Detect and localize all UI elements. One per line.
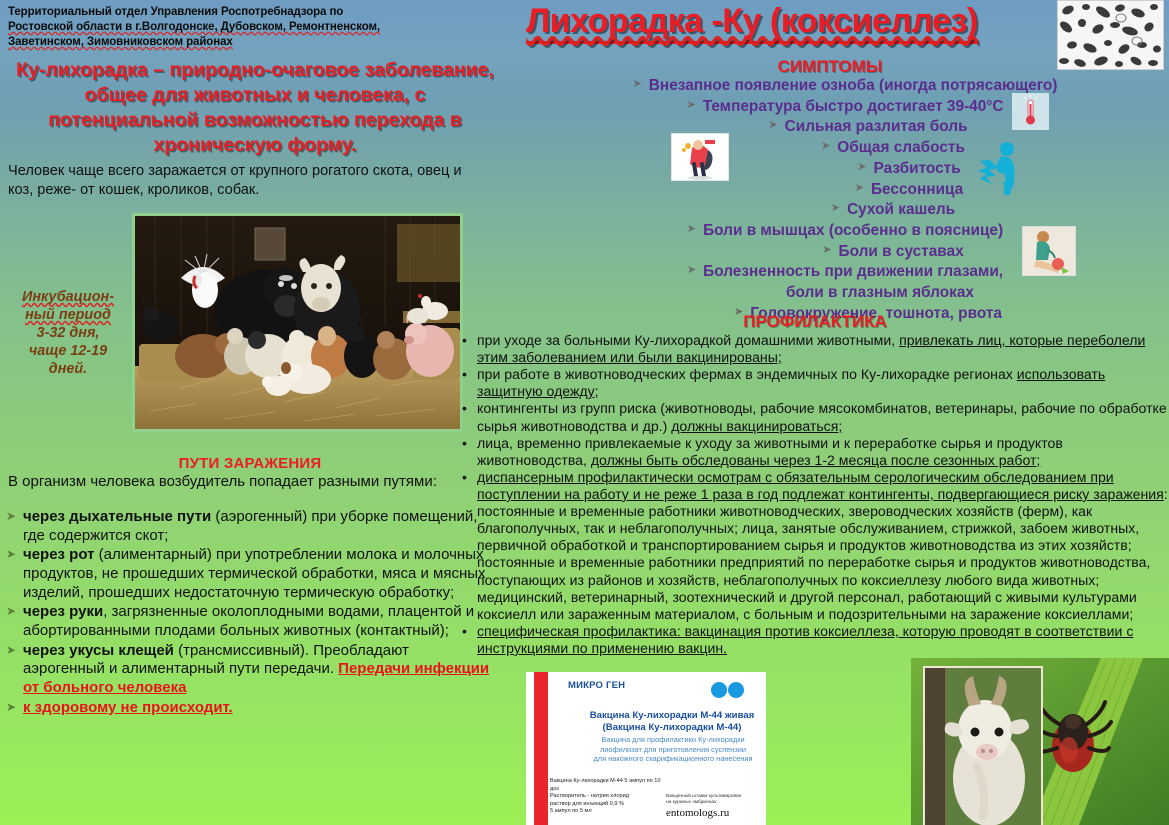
arrow-bullet-icon: ➤: [4, 699, 18, 716]
route-label: через рот: [23, 546, 94, 563]
org-line-2: Ростовской области в г.Волгодонске, Дубо…: [8, 20, 468, 35]
route-label: через укусы клещей: [23, 642, 174, 659]
vaccine-name: Вакцина Ку-лихорадки М-44 живая(Вакцина …: [582, 710, 762, 734]
list-item: боли в глазным яблоках: [585, 283, 1105, 304]
bullet-icon: •: [462, 469, 470, 485]
prevention-plain-2: : постоянные и временные работники живот…: [477, 486, 1168, 622]
prevention-title: ПРОФИЛАКТИКА: [600, 312, 1030, 332]
prevention-plain: при работе в животноводческих фермах в э…: [477, 366, 1017, 382]
vaccine-details: Вакцина Ку-лихорадки М-44 5 ампул по 10 …: [550, 778, 670, 816]
watermark: entomologs.ru: [666, 807, 729, 819]
incubation-period-text: Инкубацион- ный период 3-32 дня, чаще 12…: [2, 288, 134, 378]
no-human-transmission-part2: к здоровому не происходит.: [23, 699, 233, 716]
symptom-text: боли в глазным яблоках: [786, 283, 974, 304]
infection-source-text: Человек чаще всего заражается от крупног…: [8, 162, 488, 199]
bullet-icon: •: [462, 435, 470, 451]
list-item: ➤ Бессонница: [585, 180, 1105, 201]
prevention-plain: при уходе за больными Ку-лихорадкой дома…: [477, 332, 899, 348]
list-item: • лица, временно привлекаемые к уходу за…: [462, 435, 1168, 469]
symptom-text: Сильная разлитая боль: [785, 117, 968, 138]
person-vomiting-icon: [671, 133, 729, 181]
list-item: • при уходе за больными Ку-лихорадкой до…: [462, 332, 1168, 366]
symptom-text: Болезненность при движении глазами,: [703, 262, 1003, 283]
arrow-bullet-icon: ➤: [821, 138, 830, 156]
leg-pain-icon: [1022, 226, 1076, 276]
bullet-icon: •: [462, 332, 470, 348]
org-line-3: Заветинском, Зимовниковском районах: [8, 35, 468, 50]
symptom-text: Температура быстро достигает 39-40°С: [703, 97, 1004, 118]
symptom-text: Боли в суставах: [839, 242, 964, 263]
symptom-text: Сухой кашель: [847, 200, 955, 221]
bullet-icon: •: [462, 366, 470, 382]
route-label: через руки: [23, 603, 103, 620]
symptom-text: Разбитость: [874, 159, 961, 180]
symptom-text: Общая слабость: [837, 138, 965, 159]
goat-and-tick-photo: [911, 658, 1169, 825]
arrow-bullet-icon: ➤: [687, 221, 696, 239]
list-item: ➤ Разбитость: [585, 159, 1105, 180]
page-title: Лихорадка -Ку (коксиеллез): [452, 2, 1052, 41]
list-item: • при работе в животноводческих фермах в…: [462, 366, 1168, 400]
symptom-text: Боли в мышцах (особенно в пояснице): [703, 221, 1003, 242]
vaccine-description: Вакцина для профилактики Ку-лихорадки ли…: [582, 735, 764, 764]
bullet-icon: •: [462, 400, 470, 416]
list-item: ➤ через укусы клещей (трансмиссивный). П…: [4, 642, 490, 698]
list-item: ➤ к здоровому не происходит.: [4, 699, 490, 718]
package-dots-icon: [710, 682, 744, 703]
org-line-1: Территориальный отдел Управления Роспотр…: [8, 5, 468, 20]
arrow-bullet-icon: ➤: [855, 180, 864, 198]
vaccine-package-photo: МИКРО ГЕН Вакцина Ку-лихорадки М-44 жива…: [526, 672, 766, 825]
list-item: ➤ Общая слабость: [585, 138, 1105, 159]
transmission-routes-list: ➤ через дыхательные пути (аэрогенный) пр…: [4, 508, 490, 718]
prevention-underlined: диспансерным профилактически осмотрам с …: [477, 469, 1164, 502]
arrow-bullet-icon: ➤: [686, 97, 695, 115]
list-item: ➤ через руки, загрязненные околоплодными…: [4, 603, 490, 640]
arrow-bullet-icon: ➤: [4, 642, 18, 659]
list-item: ➤ через рот (алиментарный) при употребле…: [4, 546, 490, 602]
poster-root: Территориальный отдел Управления Роспотр…: [0, 0, 1169, 825]
organization-header: Территориальный отдел Управления Роспотр…: [8, 5, 468, 49]
symptom-text: Внезапное появление озноба (иногда потря…: [649, 76, 1058, 97]
transmission-intro: В организм человека возбудитель попадает…: [8, 473, 478, 492]
prevention-underlined: должны вакцинироваться;: [671, 418, 842, 434]
arrow-bullet-icon: ➤: [4, 546, 18, 563]
microgen-logo: МИКРО ГЕН: [568, 680, 625, 691]
list-item: ➤ Сухой кашель: [585, 200, 1105, 221]
package-red-stripe: [534, 672, 548, 825]
farm-animals-photo: [132, 213, 463, 432]
disease-definition: Ку-лихорадка – природно-очаговое заболев…: [10, 58, 500, 158]
list-item: • специфическая профилактика: вакцинация…: [462, 623, 1168, 657]
arrow-bullet-icon: ➤: [857, 159, 866, 177]
arrow-bullet-icon: ➤: [633, 76, 642, 94]
arrow-bullet-icon: ➤: [4, 603, 18, 620]
arrow-bullet-icon: ➤: [687, 262, 696, 280]
list-item: • диспансерным профилактически осмотрам …: [462, 469, 1168, 623]
vaccine-strain-note: Вакцинный штамм культивированна куриных …: [666, 794, 766, 806]
arrow-bullet-icon: ➤: [831, 200, 840, 218]
bullet-icon: •: [462, 623, 470, 639]
symptom-text: Бессонница: [871, 180, 963, 201]
prevention-list: • при уходе за больными Ку-лихорадкой до…: [462, 332, 1168, 657]
symptoms-title: СИМПТОМЫ: [640, 57, 1020, 77]
arrow-bullet-icon: ➤: [822, 242, 831, 260]
arrow-bullet-icon: ➤: [768, 117, 777, 135]
back-pain-icon: [976, 140, 1024, 196]
list-item: • контингенты из групп риска (животновод…: [462, 400, 1168, 434]
list-item: ➤ через дыхательные пути (аэрогенный) пр…: [4, 508, 490, 545]
bacteria-micrograph: [1057, 0, 1164, 70]
prevention-underlined: специфическая профилактика: вакцинация п…: [477, 623, 1133, 656]
transmission-routes-title: ПУТИ ЗАРАЖЕНИЯ: [0, 455, 500, 472]
arrow-bullet-icon: ➤: [4, 508, 18, 525]
route-label: через дыхательные пути: [23, 508, 211, 525]
prevention-plain-2: ;: [595, 383, 599, 399]
prevention-underlined: должны быть обследованы через 1-2 месяца…: [591, 452, 1041, 468]
thermometer-icon: [1012, 93, 1049, 130]
